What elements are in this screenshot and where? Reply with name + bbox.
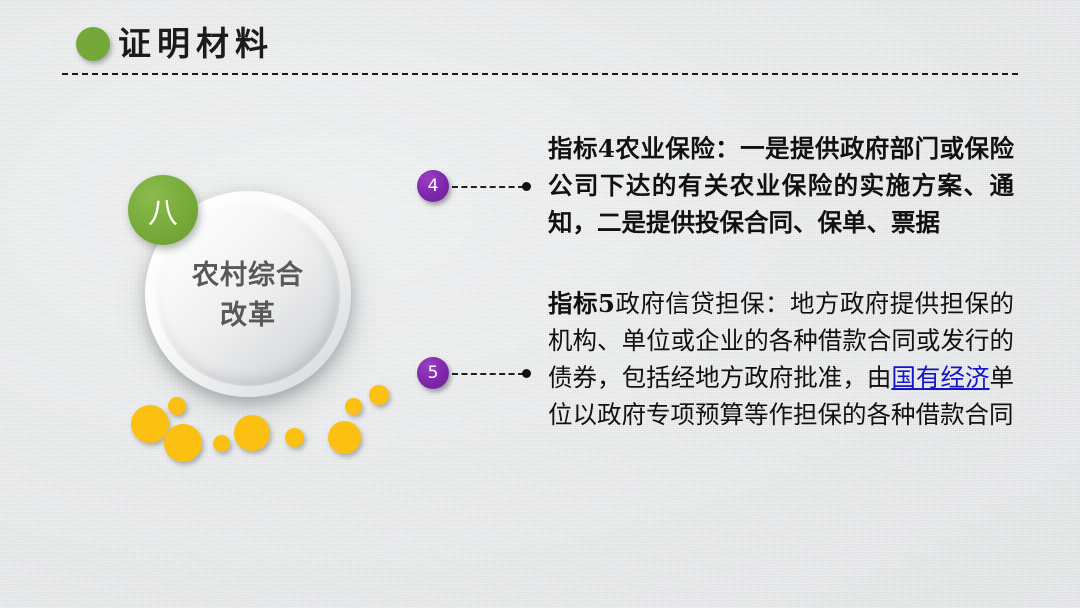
item-badge-5[interactable]: 5 bbox=[417, 357, 449, 389]
connector-endpoint-5 bbox=[522, 369, 531, 378]
decoration-dot bbox=[234, 415, 270, 451]
decoration-dot bbox=[131, 405, 169, 443]
item-lead-4: 指标4 bbox=[548, 134, 615, 163]
sphere-label-line-1: 农村综合 bbox=[192, 260, 304, 291]
title-bullet-icon bbox=[76, 27, 110, 61]
section-number-badge-eight: 八 bbox=[128, 175, 198, 245]
connector-line-4 bbox=[452, 186, 524, 188]
decoration-dot bbox=[328, 421, 361, 454]
item-text-4: 指标4农业保险：一是提供政府部门或保险公司下达的有关农业保险的实施方案、通知，二… bbox=[548, 130, 1014, 241]
item-text-5: 指标5政府信贷担保：地方政府提供担保的机构、单位或企业的各种借款合同或发行的债券… bbox=[548, 285, 1014, 433]
connector-endpoint-4 bbox=[522, 182, 531, 191]
item-badge-4[interactable]: 4 bbox=[417, 170, 449, 202]
hyperlink-state-owned-economy[interactable]: 国有经济 bbox=[891, 363, 989, 392]
page-title: 证明材料 bbox=[118, 17, 274, 65]
item-body-4: 农业保险：一是提供政府部门或保险公司下达的有关农业保险的实施方案、通知，二是提供… bbox=[548, 134, 1014, 237]
decoration-dot bbox=[213, 435, 230, 452]
decoration-dot bbox=[369, 385, 389, 405]
decoration-dot bbox=[345, 398, 362, 415]
connector-line-5 bbox=[452, 373, 524, 375]
sphere-label-line-2: 改革 bbox=[156, 296, 340, 336]
item-lead-5: 指标5 bbox=[548, 289, 615, 318]
decoration-dot bbox=[168, 397, 186, 415]
sphere-label: 农村综合 改革 bbox=[156, 256, 340, 336]
title-divider bbox=[62, 73, 1018, 75]
slide-canvas: 证明材料 农村综合 改革 八 4 5 指标4农业保险：一是提供政府部门或保险公司… bbox=[0, 0, 1080, 608]
decoration-dot bbox=[285, 428, 304, 447]
decoration-dot bbox=[164, 424, 202, 462]
